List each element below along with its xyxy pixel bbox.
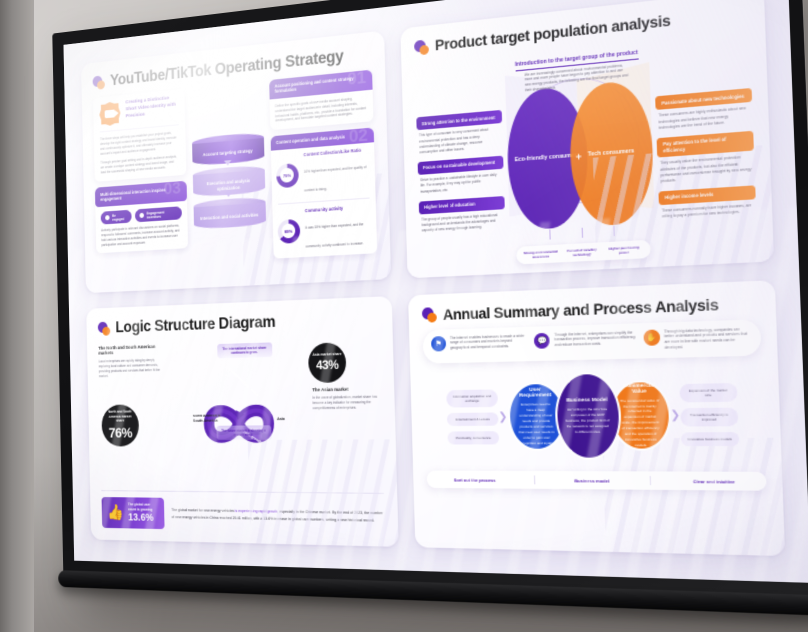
chevron-right-icon: ❯ [670,409,680,422]
stat-caption: Asia market share [309,352,346,358]
chevron-right-icon: ❯ [498,411,507,423]
left-pill[interactable]: Entertainment & Leisure [447,413,499,427]
footer-tab-bar: Sort out the process Business model Clea… [427,471,767,491]
info-body: The internet enables businesses to reach… [450,333,528,352]
footer-paragraph: The global market for new energy vehicle… [171,507,384,525]
trait-education[interactable]: Higher level of education The group of p… [419,196,505,234]
plus-icon: + [576,151,582,163]
info-item-bigdata[interactable]: ✋ Through big data technology, companies… [643,326,751,352]
left-pill[interactable]: Punctuality, convenience [448,432,500,445]
venn-diagram: Eco-friendly consumers Tech consumers + [505,79,655,232]
trait-body: These consumers normally have higher inc… [659,199,756,220]
arrow-down-icon [225,192,233,198]
badge-caption: The global user count is growing [128,503,159,512]
pill-be-engaged[interactable]: Be engaged [101,210,132,225]
badge-value: 13.6% [128,512,159,524]
identity-headline: Creating a Distinctive Short Video Ident… [125,95,178,121]
cylinder-interaction-social[interactable]: Interaction and social activities [193,196,266,229]
slide-operating-strategy[interactable]: YouTube/TikTok Operating Strategy Creati… [81,30,391,292]
metric-text: Community activity It was 15% higher tha… [305,203,372,252]
projector-screen: YouTube/TikTok Operating Strategy Creati… [52,0,808,605]
bottom-tag[interactable]: Higher purchasing power [605,245,643,256]
americas-heading: The North and South American markets [98,343,165,357]
footer-text-b: , especially in the Chinese market. By t… [172,509,383,522]
venn-layout: Strong attention to the environment This… [415,52,757,268]
slide-logic-structure[interactable]: Logic Structure Diagram The North and So… [86,296,399,547]
identity-headline-row: Creating a Distinctive Short Video Ident… [99,95,178,126]
page-title: Annual Summary and Process Analysis [443,296,719,323]
step-01-number: 01 [347,70,366,88]
logic-footer: 👍 The global user count is growing 13.6%… [101,490,385,533]
step-card-01[interactable]: 01 Account positioning and content strat… [269,70,374,131]
right-pill[interactable]: Expansion of the market size [679,383,737,403]
brand-logo-icon [98,321,111,335]
brand-logo-icon [414,39,429,55]
step-01-header: 01 Account positioning and content strat… [269,70,373,100]
asia-heading: The Asian market [312,385,381,392]
metric-body: It was 15% higher than expected, and the… [305,222,363,248]
asia-body: In the wave of globalization, market sha… [312,395,381,412]
chat-icon: 💬 [534,332,550,348]
cylinder-cap [192,132,264,149]
projection-stage: YouTube/TikTok Operating Strategy Creati… [0,0,808,632]
slide-2-header: Product target population analysis [414,4,749,56]
slide-1-header: YouTube/TikTok Operating Strategy [92,44,371,92]
global-growth-badge[interactable]: 👍 The global user count is growing 13.6% [102,497,165,529]
divider [650,476,651,485]
top-info-bar: ⚑ The internet enables businesses to rea… [422,319,761,364]
brand-logo-icon [93,75,105,90]
stat-americas[interactable]: North and South America market share 76% [101,404,139,446]
venn-circle-eco[interactable]: Eco-friendly consumers [505,85,590,232]
cylinder-label: Execution and analysis optimization [192,170,264,198]
cylinder-execution-analysis[interactable]: Execution and analysis optimization [192,164,265,197]
left-pill[interactable]: Information acquisition and exchange [446,390,498,408]
engagement-card-body: Actively participate in relevant discuss… [101,224,182,249]
eco-consumer-traits: Strong attention to the environment This… [416,110,505,234]
brand-logo-icon [422,307,437,323]
oval-title: User Requirement [516,387,554,399]
tech-consumer-traits: Passionate about new technologies These … [655,88,756,220]
trait-body: These consumers are highly enthusiastic … [656,102,753,131]
flag-icon: ⚑ [431,335,446,351]
venn-center: We are increasingly concerned about envi… [505,61,657,263]
americas-body: Local enterprises are rapidly rising by … [99,358,166,379]
info-body: Through big data technology, companies c… [664,326,751,351]
hand-icon: ✋ [643,329,660,345]
slide-4-header: Annual Summary and Process Analysis [422,294,760,323]
ribbon-future-market: The future market is showing a growth tr… [216,425,271,440]
step-card-02[interactable]: 02 Content operation and data analysis 7… [270,128,377,258]
oval-body: The commercial value of the internet is … [620,398,661,449]
right-pill[interactable]: Transaction efficiency is improved [680,408,738,427]
cylinder-cap [193,196,265,212]
venn-bottom-tags: Strong environmental awareness Pursuit o… [516,240,650,265]
footer-row: 👍 The global user count is growing 13.6%… [102,497,386,533]
fan-rays-graphic [505,61,655,216]
info-item-efficiency[interactable]: 💬 Through the internet, enterprises can … [534,330,637,355]
metric-title: Community activity [305,203,371,213]
asia-text-block: The Asian market In the wave of globaliz… [312,385,381,411]
tag-stem [581,228,582,238]
footer-text-highlight: is experiencing rapid growth [235,509,278,514]
process-ovals-row: Information acquisition and exchange Ent… [424,367,766,463]
metric-title: Content Collection/Like Ratio [303,147,369,158]
oval-commercial-value[interactable]: Commercial Value The commercial value of… [609,380,672,451]
engagement-step-number: 03 [164,180,182,197]
slide-2-subtitle-wrap: Introduction to the target group of the … [415,28,751,84]
engagement-card-body-wrap: Be engaged Engagement incentives Activel… [95,206,187,253]
slide-1-content: Creating a Distinctive Short Video Ident… [93,70,378,281]
stat-value: 43% [316,357,339,372]
metric-content-collection: 75% Content Collection/Like Ratio 10% hi… [271,142,376,203]
americas-text-block: The North and South American markets Loc… [98,343,165,379]
metric-community-activity: 65% Community activity It was 15% higher… [272,199,377,258]
badge-text: The global user count is growing 13.6% [128,503,159,524]
trait-tag: Pay attention to the level of efficiency [657,130,754,157]
distinctive-identity-card[interactable]: Creating a Distinctive Short Video Ident… [93,89,186,182]
tag-stem [613,226,614,236]
trait-tag: Focus on sustainable development [418,156,504,176]
step-02-number: 02 [349,128,368,146]
strategy-left-column: Creating a Distinctive Short Video Ident… [93,89,188,281]
logic-diagram-area: The North and South American markets Loc… [98,334,385,533]
metric-body: 10% higher than expected, and the qualit… [304,165,367,193]
annual-summary-content: ⚑ The internet enables businesses to rea… [422,319,768,538]
venn-intro-text: We are increasingly concerned about envi… [524,62,629,94]
divider [278,197,370,204]
cylinder-label: Interaction and social activities [193,202,266,229]
infinity-loop-graphic: North America & South America Asia Compl… [176,341,304,505]
stat-value: 76% [109,424,133,440]
step-01-body: Define the specific goals of new media a… [269,89,373,130]
cylinder-cap [192,164,264,181]
trait-tag: Higher level of education [419,196,505,215]
trait-tag: Strong attention to the environment [416,110,502,131]
loop-label-americas: North America & South America [193,414,225,424]
trait-sustainable[interactable]: Focus on sustainable development Strive … [418,156,504,195]
loop-label-complementary: Complementary stable [228,367,260,397]
oval-title: Commercial Value [619,383,659,395]
bottom-tag[interactable]: Strong environmental awareness [522,249,559,260]
cylinder-flow: Account targeting strategy Execution and… [190,81,267,276]
step-02-header: 02 Content operation and data analysis [270,128,374,151]
metric-text: Content Collection/Like Ratio 10% higher… [303,147,370,197]
trait-tag: Higher income levels [659,185,756,205]
oval-body: According to the structure and power of … [565,407,611,435]
trait-tag: Passionate about new technologies [655,88,752,110]
slide-3-header: Logic Structure Diagram [98,309,380,338]
section-subtitle: Introduction to the target group of the … [515,49,638,71]
venn-circle-tech[interactable]: Tech consumers [568,79,656,228]
pill-label: Be engaged [112,213,127,222]
tag-stem [549,230,550,240]
divider [101,490,384,494]
bottom-tag[interactable]: Pursuit of new/key technology [563,247,600,258]
loop-label-asia: Asia [277,416,285,420]
infinity-svg [176,341,304,505]
trait-efficiency[interactable]: Pay attention to the level of efficiency… [657,130,755,184]
footer-tab-business-model[interactable]: Business model [574,478,609,484]
left-pill-stack: Information acquisition and exchange Ent… [446,390,499,445]
trait-environment[interactable]: Strong attention to the environment This… [416,110,502,156]
oval-user-requirement[interactable]: User Requirement Enterprises need to hav… [506,382,566,451]
trait-body: This type of consumer is very concerned … [417,123,503,155]
info-item-reach[interactable]: ⚑ The internet enables businesses to rea… [431,333,528,357]
ribbon-international-growth: The international market share continues… [217,342,272,359]
loop-label-rapid-growth: rapid growth [243,429,263,444]
trait-income[interactable]: Higher income levels These consumers nor… [659,185,757,220]
slide-target-population[interactable]: Product target population analysis Intro… [400,0,774,278]
arrow-down-icon [224,160,232,166]
info-body: Through the internet, enterprises can si… [554,330,637,349]
trait-body: Strive to practice a sustainable lifesty… [418,169,504,195]
cylinder-account-targeting[interactable]: Account targeting strategy [192,132,264,166]
footer-tab-clear-intuitive[interactable]: Clear and intuitive [693,478,735,484]
trait-body: They usually value the environmental pro… [658,151,755,185]
page-title: YouTube/TikTok Operating Strategy [110,48,344,91]
trait-body: The group of people usually has a high e… [419,209,505,234]
stat-asia[interactable]: Asia market share 43% [308,342,347,383]
page-title: Logic Structure Diagram [115,313,275,337]
trait-new-tech[interactable]: Passionate about new technologies These … [655,88,752,131]
right-pill[interactable]: Innovative business models [681,432,739,446]
video-camera-icon [99,101,120,127]
footer-tab-sort-process[interactable]: Sort out the process [454,477,496,483]
right-pill-stack: Expansion of the market size Transaction… [679,383,739,446]
divider [534,476,535,485]
stat-caption: North and South America market share [101,410,138,424]
oval-body: Enterprises need to have a deep understa… [517,402,556,446]
thumbs-up-icon: 👍 [107,505,124,520]
slide-annual-summary[interactable]: Annual Summary and Process Analysis ⚑ Th… [408,280,785,557]
